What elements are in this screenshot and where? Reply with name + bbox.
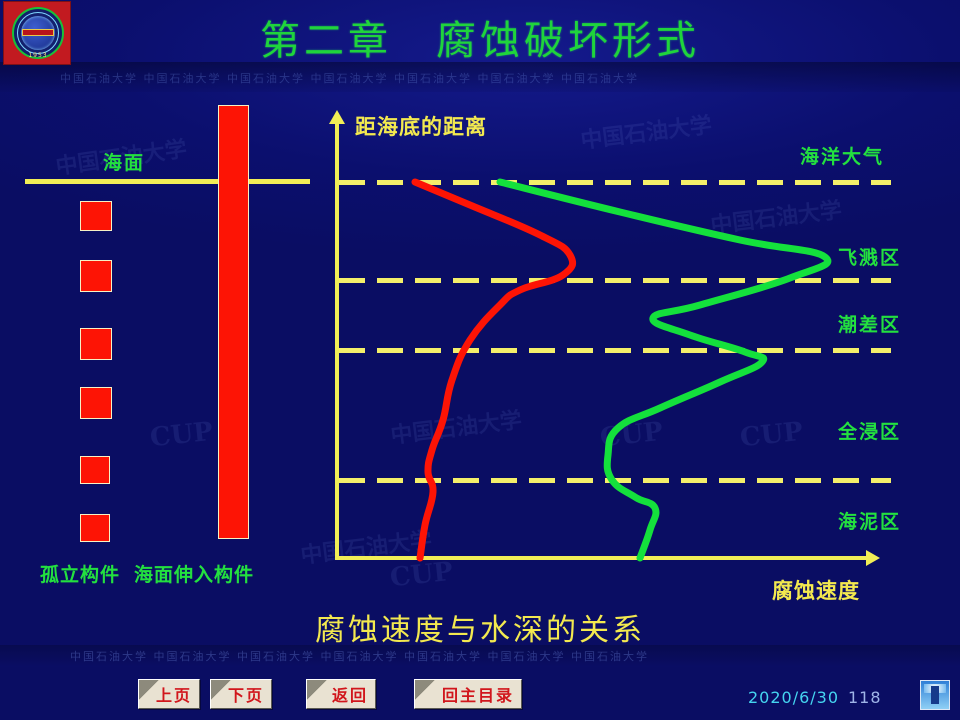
zone-boundary-gridline	[339, 180, 891, 185]
date-stamp: 2020/6/30	[748, 688, 839, 707]
y-axis-label: 距海底的距离	[355, 111, 487, 141]
zone-boundary-gridline	[339, 348, 891, 353]
y-axis-line	[335, 120, 339, 560]
sea-surface-line	[25, 179, 310, 184]
background-watermark: 中国石油大学	[299, 522, 434, 570]
y-axis-arrow-icon	[329, 110, 345, 124]
home-menu-button[interactable]: 回主目录	[414, 679, 522, 709]
background-watermark: CUP	[739, 417, 805, 453]
isolated-member-chip	[80, 456, 110, 484]
corner-icon-stem	[931, 686, 939, 704]
top-decor-band: 中国石油大学 中国石油大学 中国石油大学 中国石油大学 中国石油大学 中国石油大…	[0, 62, 960, 92]
top-band-watermark-text: 中国石油大学 中国石油大学 中国石油大学 中国石油大学 中国石油大学 中国石油大…	[60, 70, 639, 86]
sea-extending-member-bar	[218, 105, 249, 539]
back-button[interactable]: 返回	[306, 679, 376, 709]
sea-surface-label: 海面	[103, 148, 145, 175]
background-watermark: CUP	[149, 417, 215, 453]
zone-label-splash: 飞溅区	[838, 243, 901, 270]
prev-page-button[interactable]: 上页	[138, 679, 200, 709]
zone-label-marine-atmosphere: 海洋大气	[800, 142, 884, 169]
x-axis-line	[335, 556, 870, 560]
zone-boundary-gridline	[339, 478, 891, 483]
next-page-button[interactable]: 下页	[210, 679, 272, 709]
zone-boundary-gridline	[339, 278, 891, 283]
curve-孤立构件	[415, 182, 573, 558]
page-title: 第二章 腐蚀破坏形式	[0, 8, 960, 66]
x-axis-label: 腐蚀速度	[772, 575, 860, 605]
background-watermark: 中国石油大学	[389, 402, 524, 450]
presentation-corner-icon	[920, 680, 950, 710]
page-number: 118	[848, 688, 882, 707]
background-watermark: 中国石油大学	[709, 192, 844, 240]
zone-label-submerged: 全浸区	[838, 417, 901, 444]
slide-canvas: 中国石油大学 中国石油大学 中国石油大学 中国石油大学 中国石油大学 中国石油大…	[0, 0, 960, 720]
background-watermark: CUP	[599, 417, 665, 453]
isolated-member-caption: 孤立构件	[40, 564, 120, 586]
isolated-member-chip	[80, 260, 112, 292]
isolated-member-chip	[80, 387, 112, 419]
figure-caption: 腐蚀速度与水深的关系	[0, 605, 960, 649]
curve-海面伸入构件	[500, 182, 828, 558]
schematic-captions: 孤立构件海面伸入构件	[40, 560, 254, 587]
extending-member-caption: 海面伸入构件	[134, 564, 254, 586]
zone-label-mud: 海泥区	[838, 507, 901, 534]
bottom-decor-band: 中国石油大学 中国石油大学 中国石油大学 中国石油大学 中国石油大学 中国石油大…	[0, 645, 960, 667]
background-watermark: 中国石油大学	[579, 107, 714, 155]
isolated-member-chip	[80, 514, 110, 542]
isolated-member-chip	[80, 328, 112, 360]
x-axis-arrow-icon	[866, 550, 880, 566]
zone-label-tidal: 潮差区	[838, 310, 901, 337]
bottom-band-watermark-text: 中国石油大学 中国石油大学 中国石油大学 中国石油大学 中国石油大学 中国石油大…	[70, 648, 649, 664]
isolated-member-chip	[80, 201, 112, 231]
background-watermark: CUP	[389, 557, 455, 593]
